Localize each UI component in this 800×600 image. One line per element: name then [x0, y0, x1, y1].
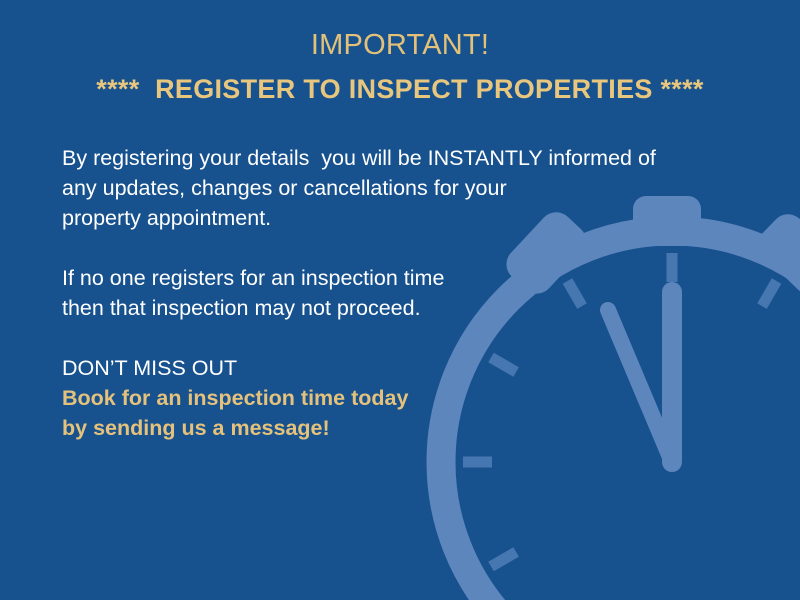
body-copy-block: By registering your details you will be … [62, 143, 722, 443]
cta-book-line-1: Book for an inspection time today [62, 383, 722, 413]
paragraph-benefits-line-3: property appointment. [62, 203, 722, 233]
cta-book-line-2: by sending us a message! [62, 413, 722, 443]
headline-primary: IMPORTANT! [0, 28, 800, 62]
paragraph-warning: If no one registers for an inspection ti… [62, 263, 722, 323]
paragraph-call-to-action: DON’T MISS OUT Book for an inspection ti… [62, 353, 722, 443]
paragraph-benefits-line-1: By registering your details you will be … [62, 143, 722, 173]
paragraph-benefits: By registering your details you will be … [62, 143, 722, 233]
headline-secondary: **** REGISTER TO INSPECT PROPERTIES **** [0, 74, 800, 106]
paragraph-benefits-line-2: any updates, changes or cancellations fo… [62, 173, 722, 203]
cta-dont-miss-out: DON’T MISS OUT [62, 353, 722, 383]
slide-canvas: IMPORTANT! **** REGISTER TO INSPECT PROP… [0, 0, 800, 600]
paragraph-warning-line-1: If no one registers for an inspection ti… [62, 263, 722, 293]
paragraph-warning-line-2: then that inspection may not proceed. [62, 293, 722, 323]
headline-block: IMPORTANT! **** REGISTER TO INSPECT PROP… [0, 28, 800, 106]
